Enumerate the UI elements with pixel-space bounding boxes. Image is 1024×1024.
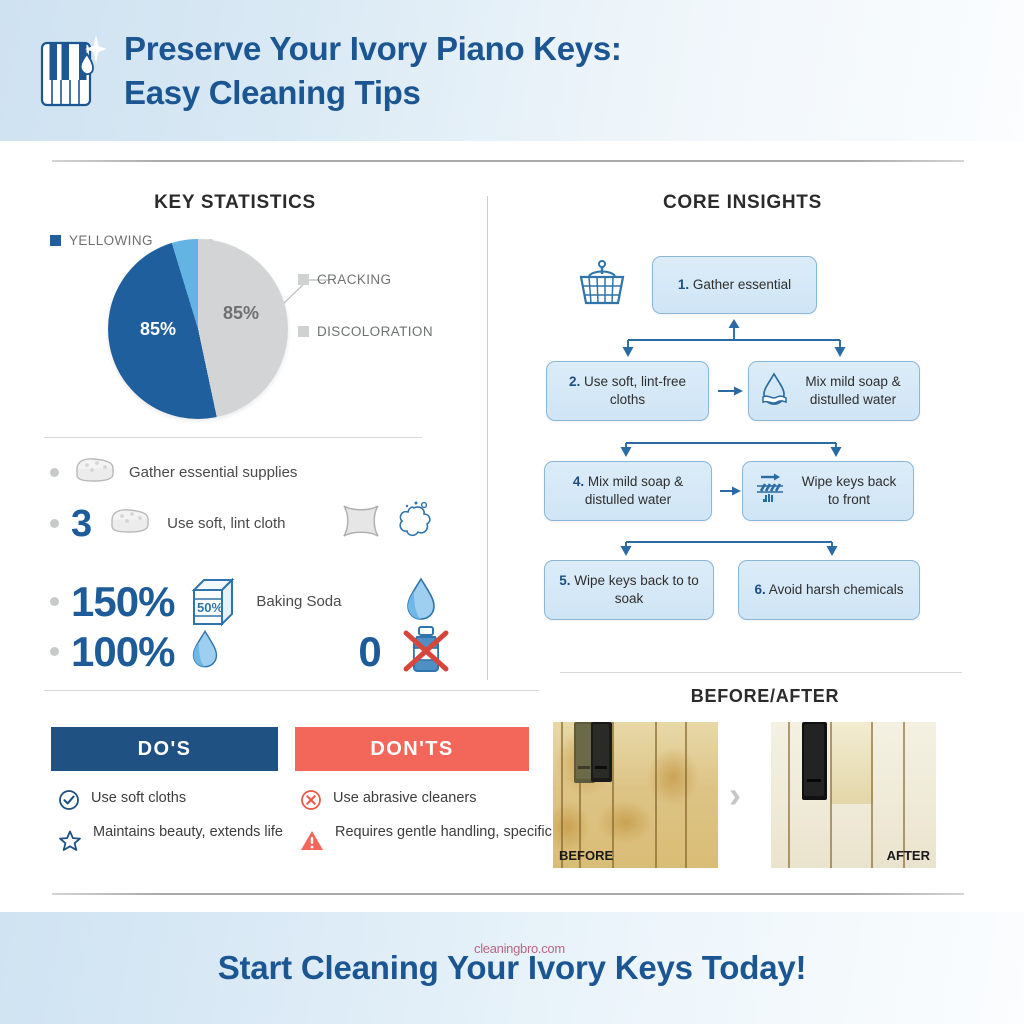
title-line-2: Easy Cleaning Tips: [124, 71, 622, 115]
flow-box-label: Gather essential: [693, 277, 791, 292]
dos-item: Use soft cloths: [58, 789, 186, 816]
stat-number: 3: [71, 505, 91, 543]
section-heading-core-insights: CORE INSIGHTS: [600, 192, 885, 214]
flow-box-3[interactable]: Mix mild soap & distulled water: [748, 361, 920, 421]
legend-label: CRACKING: [317, 272, 391, 287]
soap-water-icon: [759, 371, 789, 412]
water-drop-icon: [404, 575, 438, 628]
pie-label-cracking: 85%: [223, 303, 259, 324]
legend-swatch-icon: [298, 274, 309, 285]
flow-box-number: 5.: [559, 573, 570, 588]
bullet-icon: [50, 468, 59, 477]
pie-chart-graphic: [108, 239, 288, 419]
flow-box-label: Wipe keys back to to soak: [574, 573, 699, 606]
flow-box-label: Mix mild soap & distulled water: [585, 474, 683, 507]
flow-box-number: 6.: [754, 582, 765, 597]
dos-item: Maintains beauty, extends life: [58, 823, 283, 858]
star-icon: [58, 829, 82, 858]
flow-box-7[interactable]: 6. Avoid harsh chemicals: [738, 560, 920, 620]
warning-triangle-icon: [300, 829, 324, 857]
bullet-icon: [50, 647, 59, 656]
before-after-divider: [560, 672, 962, 673]
legend-item-discoloration: DISCOLORATION: [298, 324, 433, 339]
flow-box-label: Mix mild soap & distulled water: [797, 373, 909, 408]
sponge-icon: [73, 455, 117, 490]
stat-row: 100% 0: [50, 622, 453, 681]
wipe-keys-icon: [753, 471, 787, 512]
stat-label: Gather essential supplies: [129, 464, 297, 481]
stats-divider: [44, 437, 422, 438]
pie-label-yellowing: 85%: [140, 319, 176, 340]
stat-row: Gather essential supplies: [50, 455, 297, 490]
section-heading-before-after: BEFORE/AFTER: [600, 686, 930, 707]
bubbles-icon: [394, 500, 434, 547]
legend-item-yellowing: YELLOWING: [50, 233, 153, 248]
legend-label: YELLOWING: [69, 233, 153, 248]
top-divider: [52, 160, 964, 162]
legend-item-cracking: CRACKING: [298, 272, 391, 287]
flow-box-label: Wipe keys back to front: [795, 473, 903, 508]
flow-box-5[interactable]: Wipe keys back to front: [742, 461, 914, 521]
flow-box-2[interactable]: 2. Use soft, lint-free cloths: [546, 361, 709, 421]
after-caption: AFTER: [887, 848, 930, 863]
stat-row: 3 Use soft, lint cloth: [50, 500, 434, 547]
water-drop-icon: [190, 627, 220, 676]
flow-box-number: 2.: [569, 374, 580, 389]
section-heading-key-statistics: KEY STATISTICS: [90, 192, 380, 214]
flow-box-label: Use soft, lint-free cloths: [584, 374, 686, 407]
check-circle-icon: [58, 789, 80, 816]
flow-box-1[interactable]: 1. Gather essential: [652, 256, 817, 314]
x-circle-icon: [300, 789, 322, 816]
after-image: AFTER: [771, 722, 936, 868]
flow-box-4[interactable]: 4. Mix mild soap & distulled water: [544, 461, 712, 521]
sponge-icon: [107, 506, 153, 541]
flow-box-number: 4.: [573, 474, 584, 489]
flow-box-number: 1.: [678, 277, 689, 292]
title-line-1: Preserve Your Ivory Piano Keys:: [124, 27, 622, 71]
infographic-page: Preserve Your Ivory Piano Keys: Easy Cle…: [0, 0, 1024, 1024]
dos-donts-divider: [44, 690, 539, 691]
before-image: BEFORE: [553, 722, 718, 868]
dos-header: DO'S: [51, 727, 278, 771]
shopping-basket-icon: [575, 260, 629, 315]
flow-box-label: Avoid harsh chemicals: [769, 582, 904, 597]
comparison-arrow-icon: ›: [729, 777, 741, 813]
detergent-box-label: 50%: [197, 600, 223, 615]
legend-swatch-icon: [50, 235, 61, 246]
footer-cta: Start Cleaning Your Ivory Keys Today!: [218, 949, 807, 987]
dos-item-text: Use soft cloths: [91, 789, 186, 808]
donts-header: DON'TS: [295, 727, 529, 771]
bottom-divider: [52, 893, 964, 895]
flow-box-6[interactable]: 5. Wipe keys back to to soak: [544, 560, 714, 620]
donts-item-text: Use abrasive cleaners: [333, 789, 476, 808]
legend-label: DISCOLORATION: [317, 324, 433, 339]
no-bottle-icon: [399, 622, 453, 681]
header-banner: Preserve Your Ivory Piano Keys: Easy Cle…: [0, 0, 1024, 141]
stat-number: 100%: [71, 631, 174, 673]
cloth-icon: [336, 500, 386, 547]
page-title: Preserve Your Ivory Piano Keys: Easy Cle…: [124, 27, 622, 114]
pie-chart: 85% 85% YELLOWING CRACKING DISCOLORATION: [40, 225, 490, 435]
core-insights-flowchart: 1. Gather essential 2. Use soft, lint-fr…: [540, 240, 940, 625]
bullet-icon: [50, 519, 59, 528]
legend-swatch-icon: [298, 326, 309, 337]
stat-label: Use soft, lint cloth: [167, 515, 285, 532]
stat-number-secondary: 0: [358, 631, 380, 673]
donts-item: Use abrasive cleaners: [300, 789, 476, 816]
before-after-comparison: BEFORE ›: [553, 722, 953, 868]
footer-banner: Start Cleaning Your Ivory Keys Today!: [0, 912, 1024, 1024]
stat-number: 150%: [71, 581, 174, 623]
piano-keys-droplet-icon: [28, 27, 114, 115]
bullet-icon: [50, 597, 59, 606]
dos-item-text: Maintains beauty, extends life: [93, 823, 283, 842]
stat-label: Baking Soda: [256, 593, 341, 610]
before-caption: BEFORE: [559, 848, 613, 863]
